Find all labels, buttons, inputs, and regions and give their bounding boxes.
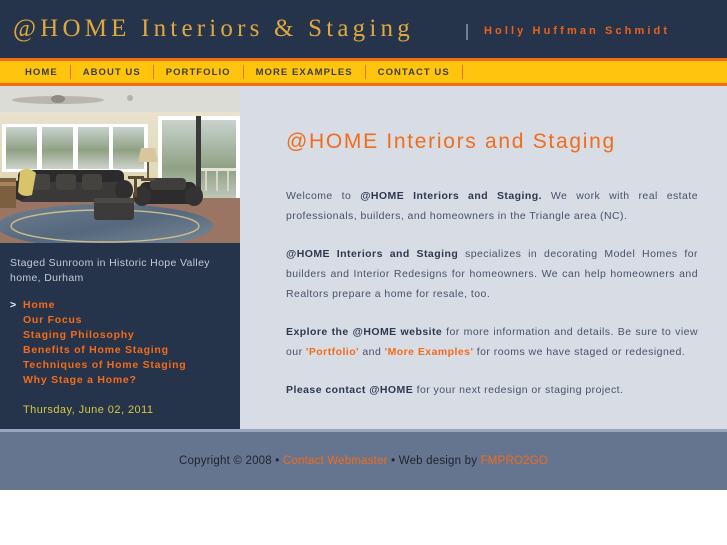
header-divider <box>466 24 468 40</box>
site-footer: Copyright © 2008 • Contact Webmaster • W… <box>0 432 727 490</box>
footer-middle-text: • Web design by <box>388 455 481 467</box>
paragraph-contact: Please contact @HOME for your next redes… <box>286 380 698 400</box>
nav-separator <box>462 65 463 79</box>
p3-text-c: and <box>359 346 385 358</box>
copyright-text: Copyright © 2008 • <box>179 455 283 467</box>
current-date: Thursday, June 02, 2011 <box>23 404 153 416</box>
sidebar-item-why-stage-a-home[interactable]: Why Stage a Home? <box>10 373 235 388</box>
site-header: @HOME Interiors & Staging Holly Huffman … <box>0 0 727 58</box>
sunroom-photo-graphic <box>0 86 240 243</box>
sidebar-item-staging-philosophy[interactable]: Staging Philosophy <box>10 328 235 343</box>
content-body: Welcome to @HOME Interiors and Staging. … <box>286 186 698 418</box>
sidebar-nav: Home Our Focus Staging Philosophy Benefi… <box>10 298 235 388</box>
sunroom-photo <box>0 86 240 243</box>
site-title: @HOME Interiors & Staging <box>13 15 414 43</box>
page-root: @HOME Interiors & Staging Holly Huffman … <box>0 0 727 545</box>
nav-item-home[interactable]: HOME <box>13 67 70 78</box>
sidebar-item-our-focus[interactable]: Our Focus <box>10 313 235 328</box>
paragraph-welcome: Welcome to @HOME Interiors and Staging. … <box>286 186 698 226</box>
page-title: @HOME Interiors and Staging <box>286 130 616 154</box>
photo-caption: Staged Sunroom in Historic Hope Valley h… <box>10 256 225 286</box>
nav-item-portfolio[interactable]: PORTFOLIO <box>154 67 243 78</box>
p3-bold: Explore the @HOME website <box>286 326 442 338</box>
nav-item-more-examples[interactable]: MORE EXAMPLES <box>244 67 365 78</box>
sidebar-item-techniques-of-home-staging[interactable]: Techniques of Home Staging <box>10 358 235 373</box>
p4-bold: Please contact @HOME <box>286 384 413 396</box>
p1-text-a: Welcome to <box>286 190 360 202</box>
designer-link[interactable]: FMPRO2GO <box>481 455 548 467</box>
nav-item-contact-us[interactable]: CONTACT US <box>366 67 462 78</box>
main-navigation: HOME ABOUT US PORTFOLIO MORE EXAMPLES CO… <box>0 61 727 83</box>
paragraph-explore: Explore the @HOME website for more infor… <box>286 322 698 362</box>
footer-text: Copyright © 2008 • Contact Webmaster • W… <box>0 455 727 467</box>
main-content: @HOME Interiors and Staging Welcome to @… <box>240 86 727 429</box>
sidebar: Staged Sunroom in Historic Hope Valley h… <box>0 86 240 429</box>
p4-text-b: for your next redesign or staging projec… <box>413 384 623 396</box>
p3-text-d: for rooms we have staged or redesigned. <box>473 346 685 358</box>
contact-webmaster-link[interactable]: Contact Webmaster <box>283 455 388 467</box>
sidebar-item-benefits-of-home-staging[interactable]: Benefits of Home Staging <box>10 343 235 358</box>
more-examples-link[interactable]: 'More Examples' <box>385 346 474 358</box>
portfolio-link[interactable]: 'Portfolio' <box>306 346 359 358</box>
owner-name: Holly Huffman Schmidt <box>484 25 670 37</box>
p1-bold: @HOME Interiors and Staging. <box>360 190 542 202</box>
paragraph-specializes: @HOME Interiors and Staging specializes … <box>286 244 698 304</box>
page-bottom-blank <box>0 490 727 545</box>
p2-bold: @HOME Interiors and Staging <box>286 248 458 260</box>
sidebar-item-home[interactable]: Home <box>10 298 235 313</box>
nav-item-about-us[interactable]: ABOUT US <box>71 67 153 78</box>
